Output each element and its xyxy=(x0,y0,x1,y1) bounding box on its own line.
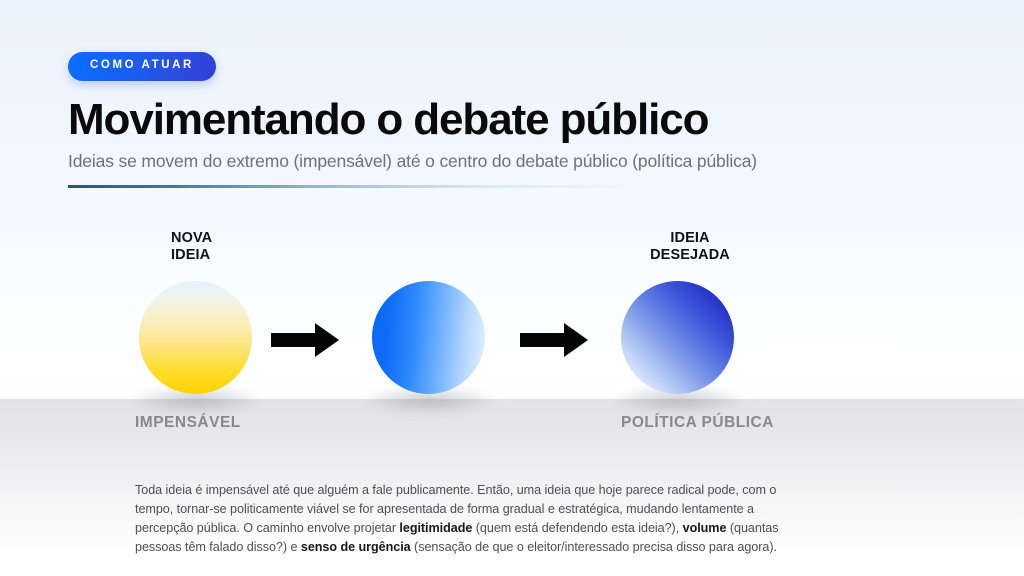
floor-label-impensavel: IMPENSÁVEL xyxy=(135,414,241,432)
header-divider xyxy=(68,185,643,188)
badge-como-atuar: COMO ATUAR xyxy=(68,52,216,81)
page-subtitle: Ideias se movem do extremo (impensável) … xyxy=(68,151,968,173)
stage-label-nova-ideia: NOVA IDEIA xyxy=(171,230,212,264)
body-bold-legitimidade: legitimidade xyxy=(399,521,472,535)
floor-label-politica-publica: POLÍTICA PÚBLICA xyxy=(621,414,774,432)
orb-public-policy xyxy=(621,281,734,394)
body-bold-volume: volume xyxy=(683,521,727,535)
body-paragraph: Toda ideia é impensável até que alguém a… xyxy=(135,481,811,558)
slide-canvas: COMO ATUAR Movimentando o debate público… xyxy=(0,0,1024,576)
stage-label-ideia-desejada: IDEIA DESEJADA xyxy=(604,230,776,264)
slide-header: COMO ATUAR Movimentando o debate público… xyxy=(68,52,968,188)
body-part-4: (sensação de que o eleitor/interessado p… xyxy=(411,540,777,554)
orb-unthinkable xyxy=(139,281,252,394)
arrow-right-2-icon xyxy=(520,322,588,363)
body-part-2: (quem está defendendo esta ideia?), xyxy=(472,521,682,535)
orb-transition xyxy=(372,281,485,394)
arrow-right-1-icon xyxy=(271,322,339,363)
body-bold-senso-urgencia: senso de urgência xyxy=(301,540,411,554)
page-title: Movimentando o debate público xyxy=(68,97,968,144)
